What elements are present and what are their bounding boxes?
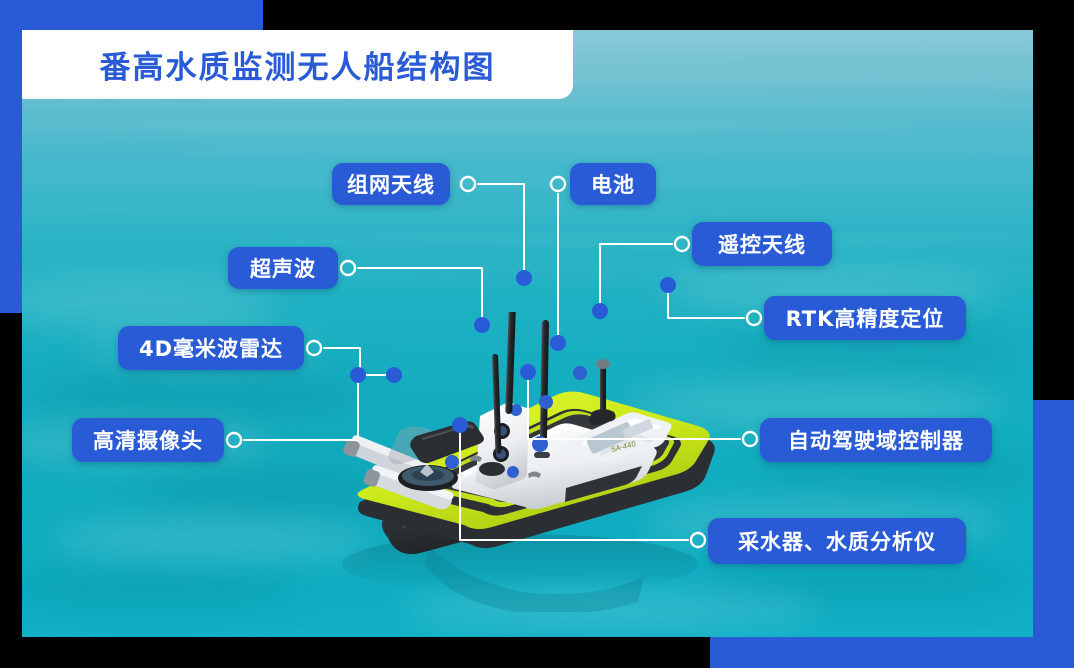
- callout-label-text: 组网天线: [347, 169, 435, 199]
- infographic-stage: SA-440 番高水质监测无人船结构图 组网天线电池超声波遥控天线4D毫米波雷达…: [0, 0, 1074, 668]
- page-title: 番高水质监测无人船结构图: [100, 42, 496, 87]
- callout-label-text: 高清摄像头: [93, 425, 203, 455]
- decor-bar-left: [0, 0, 22, 313]
- callout-label-text: RTK高精度定位: [786, 303, 945, 333]
- callout-label-remote-antenna[interactable]: 遥控天线: [692, 222, 832, 266]
- callout-label-camera[interactable]: 高清摄像头: [72, 418, 224, 462]
- callout-label-battery[interactable]: 电池: [570, 163, 656, 205]
- decor-bar-right: [1033, 400, 1074, 668]
- title-card: 番高水质监测无人船结构图: [22, 30, 573, 99]
- callout-label-mesh-antenna[interactable]: 组网天线: [332, 163, 450, 205]
- decor-bar-top-left: [0, 0, 263, 31]
- callout-label-text: 超声波: [250, 253, 316, 283]
- callout-label-text: 电池: [591, 169, 635, 199]
- callout-label-rtk[interactable]: RTK高精度定位: [764, 296, 966, 340]
- callout-label-ultrasonic[interactable]: 超声波: [228, 247, 338, 289]
- callout-label-sampler[interactable]: 采水器、水质分析仪: [708, 518, 966, 564]
- callout-label-text: 采水器、水质分析仪: [738, 526, 936, 556]
- callout-label-radar-4d[interactable]: 4D毫米波雷达: [118, 326, 304, 370]
- callout-label-text: 自动驾驶域控制器: [788, 425, 964, 455]
- unmanned-survey-vessel-illustration: SA-440: [270, 312, 730, 612]
- callout-label-text: 4D毫米波雷达: [139, 333, 283, 363]
- callout-label-text: 遥控天线: [718, 229, 806, 259]
- callout-label-autopilot-ecu[interactable]: 自动驾驶域控制器: [760, 418, 992, 462]
- decor-bar-bottom: [710, 637, 1074, 668]
